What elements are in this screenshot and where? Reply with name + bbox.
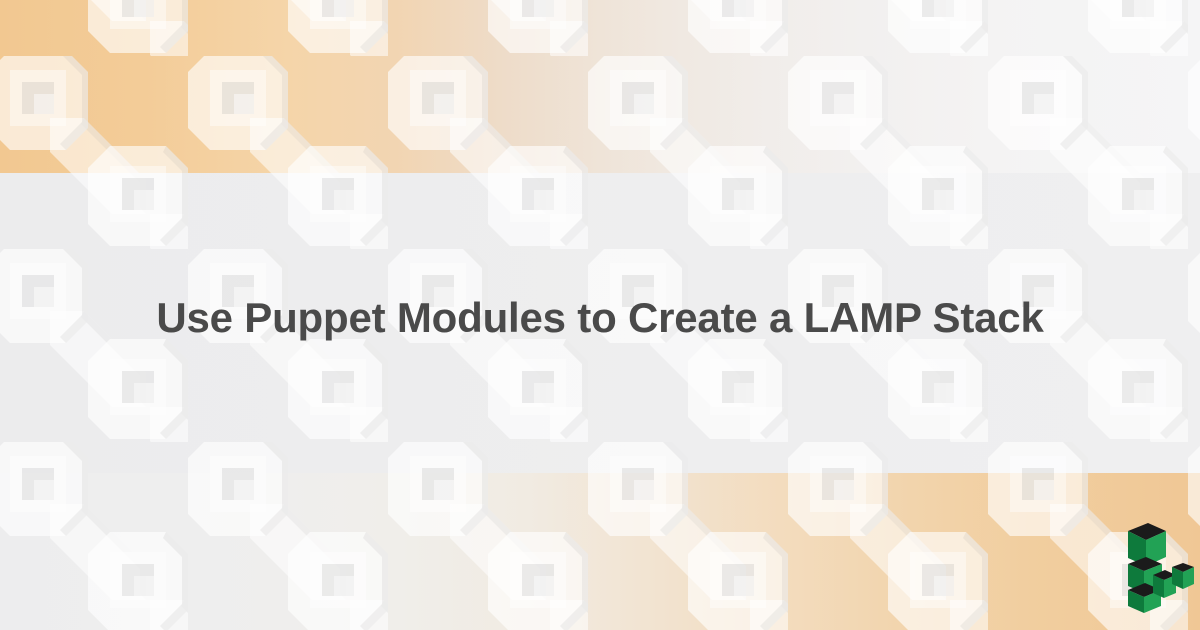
page-title: Use Puppet Modules to Create a LAMP Stac… <box>0 292 1200 344</box>
background-band-top <box>0 0 1200 173</box>
social-card: Use Puppet Modules to Create a LAMP Stac… <box>0 0 1200 630</box>
logo-cube-small-outer <box>1172 563 1194 589</box>
linode-cubes-logo <box>1108 521 1200 613</box>
background-band-bottom <box>0 473 1200 630</box>
